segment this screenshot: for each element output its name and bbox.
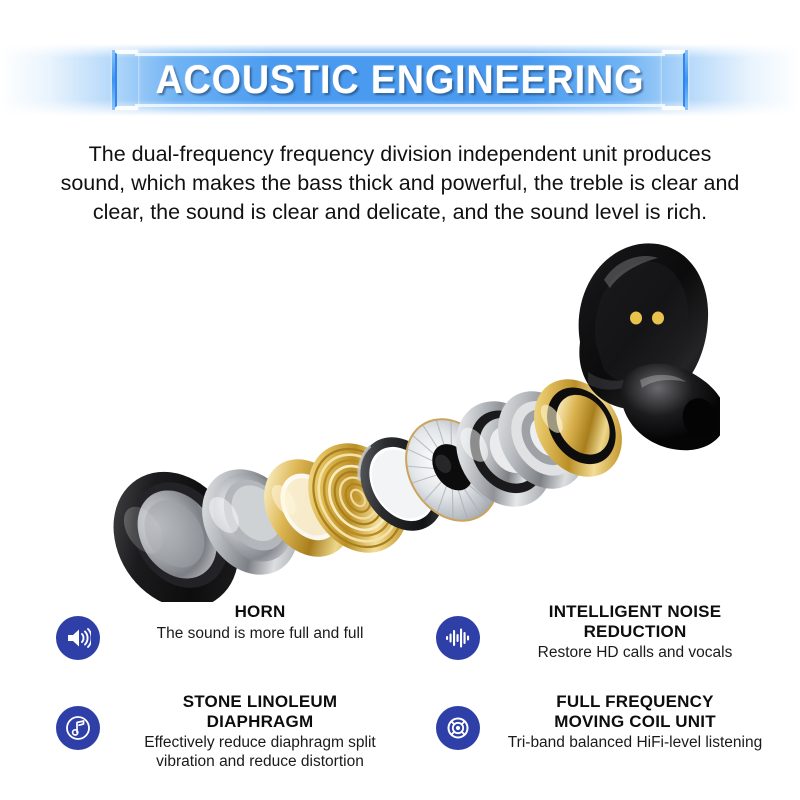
- feature-horn-text: HORN The sound is more full and full: [100, 602, 416, 644]
- feature-noise-reduction-title: INTELLIGENT NOISE REDUCTION: [484, 602, 786, 641]
- feature-moving-coil: FULL FREQUENCY MOVING COIL UNIT Tri-band…: [436, 692, 786, 753]
- page-title: ACOUSTIC ENGINEERING: [24, 44, 776, 116]
- feature-moving-coil-title: FULL FREQUENCY MOVING COIL UNIT: [484, 692, 786, 731]
- features-grid: HORN The sound is more full and full INT: [44, 602, 784, 792]
- intro-paragraph: The dual-frequency frequency division in…: [30, 140, 770, 227]
- header-banner: ACOUSTIC ENGINEERING: [0, 44, 800, 116]
- charging-contact-2: [652, 312, 664, 325]
- feature-noise-reduction-desc: Restore HD calls and vocals: [484, 644, 786, 663]
- feature-horn-desc: The sound is more full and full: [104, 625, 416, 644]
- intro-line-2: sound, which makes the bass thick and po…: [30, 169, 770, 198]
- feature-diaphragm-desc: Effectively reduce diaphragm split vibra…: [104, 734, 416, 772]
- feature-noise-reduction-text: INTELLIGENT NOISE REDUCTION Restore HD c…: [480, 602, 786, 663]
- feature-diaphragm-title: STONE LINOLEUM DIAPHRAGM: [104, 692, 416, 731]
- sound-wave-icon: [436, 616, 480, 660]
- intro-line-1: The dual-frequency frequency division in…: [30, 140, 770, 169]
- exploded-earbud-diagram: [80, 222, 720, 602]
- feature-horn: HORN The sound is more full and full: [56, 602, 416, 660]
- music-note-icon: [56, 706, 100, 750]
- feature-diaphragm-text: STONE LINOLEUM DIAPHRAGM Effectively red…: [100, 692, 416, 772]
- feature-horn-title: HORN: [104, 602, 416, 622]
- driver-coil-icon: [436, 706, 480, 750]
- feature-moving-coil-text: FULL FREQUENCY MOVING COIL UNIT Tri-band…: [480, 692, 786, 753]
- feature-diaphragm: STONE LINOLEUM DIAPHRAGM Effectively red…: [56, 692, 416, 772]
- feature-noise-reduction: INTELLIGENT NOISE REDUCTION Restore HD c…: [436, 602, 786, 663]
- speaker-horn-icon: [56, 616, 100, 660]
- feature-moving-coil-desc: Tri-band balanced HiFi-level listening: [484, 734, 786, 753]
- ear-tip-nozzle: [621, 364, 720, 451]
- charging-contact-1: [630, 312, 642, 325]
